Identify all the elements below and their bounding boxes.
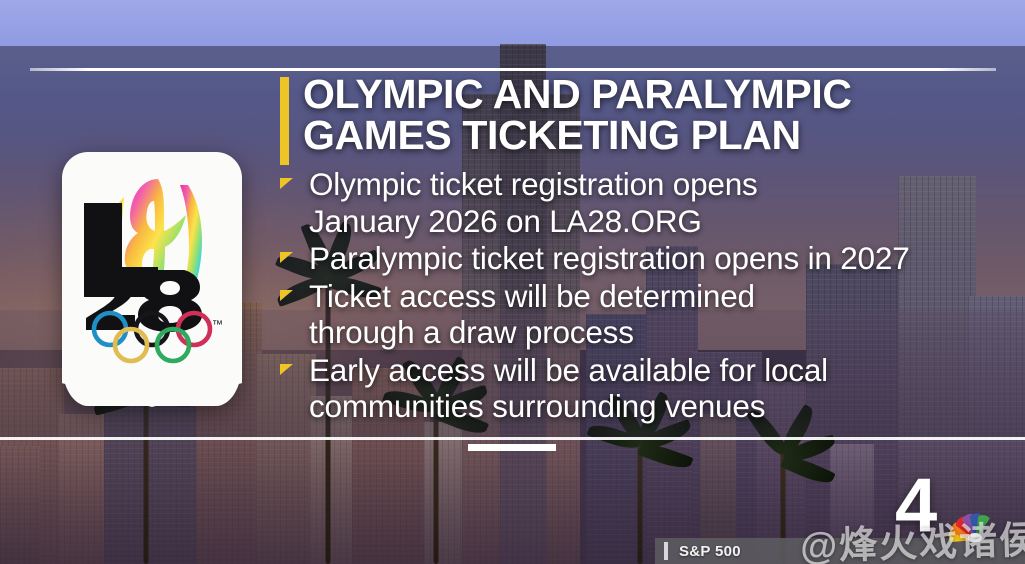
- triangle-bullet-icon: [280, 290, 293, 301]
- list-item-label: Paralympic ticket registration opens in …: [309, 240, 910, 277]
- divider-line-bottom: [0, 437, 1025, 440]
- bullet-list: Olympic ticket registration opens Januar…: [280, 166, 980, 426]
- list-item-label: Olympic ticket registration opens Januar…: [309, 166, 758, 239]
- la28-logo-badge: ™: [62, 152, 242, 406]
- nbc-4-logo: 4: [895, 472, 1003, 546]
- list-item: Olympic ticket registration opens Januar…: [280, 166, 980, 239]
- broadcast-graphic: OLYMPIC AND PARALYMPIC GAMES TICKETING P…: [0, 0, 1025, 564]
- list-item-label: Early access will be available for local…: [309, 352, 828, 425]
- triangle-bullet-icon: [280, 252, 293, 263]
- ticker-label: S&P 500: [679, 543, 741, 560]
- ticker-accent-bar: [664, 542, 668, 560]
- triangle-bullet-icon: [280, 364, 293, 375]
- list-item: Early access will be available for local…: [280, 352, 980, 425]
- nbc-peacock-icon: [947, 502, 1003, 542]
- triangle-bullet-icon: [280, 178, 293, 189]
- olympic-rings-icon: [87, 310, 217, 364]
- title-accent-bar: [280, 77, 289, 165]
- title-text: OLYMPIC AND PARALYMPIC GAMES TICKETING P…: [303, 74, 852, 165]
- divider-segment: [468, 444, 556, 451]
- list-item-label: Ticket access will be determined through…: [309, 278, 755, 351]
- list-item: Paralympic ticket registration opens in …: [280, 240, 980, 277]
- channel-number: 4: [895, 468, 937, 544]
- list-item: Ticket access will be determined through…: [280, 278, 980, 351]
- page-title: OLYMPIC AND PARALYMPIC GAMES TICKETING P…: [280, 74, 852, 165]
